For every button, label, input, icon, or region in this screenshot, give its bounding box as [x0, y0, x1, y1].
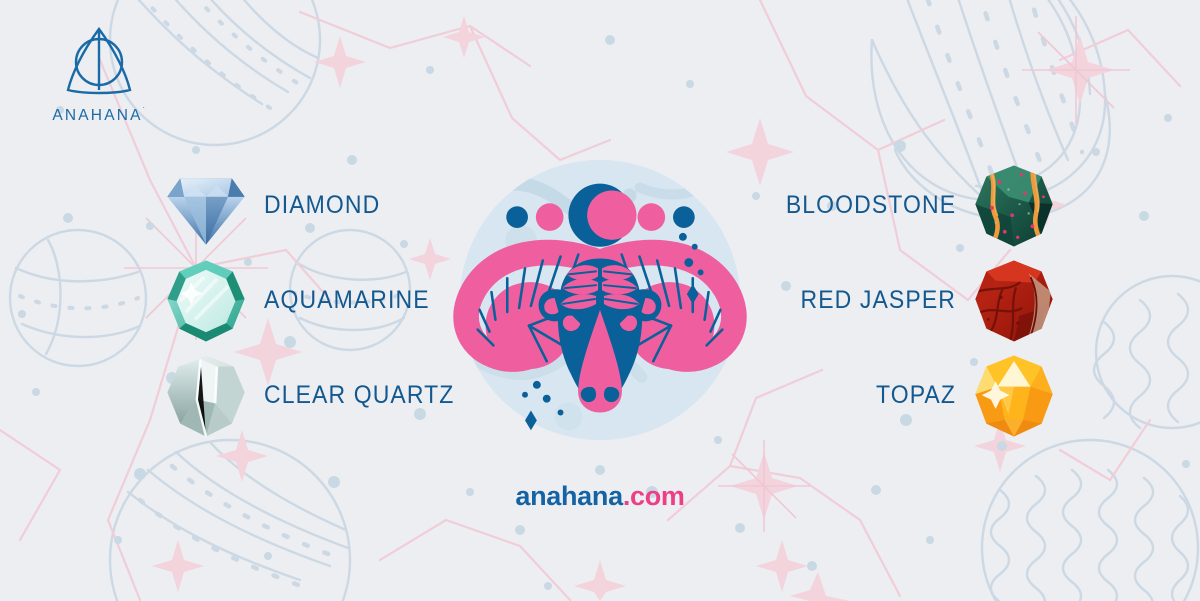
gem-item-diamond[interactable]: DIAMOND	[160, 158, 450, 253]
triquetra-icon	[56, 24, 142, 102]
bloodstone-gem-icon	[968, 160, 1060, 252]
diamond-gem-icon	[160, 160, 252, 252]
trademark-mark: ˙	[143, 106, 146, 116]
gem-item-aquamarine[interactable]: AQUAMARINE	[160, 253, 450, 348]
aquamarine-gem-icon	[160, 255, 252, 347]
gem-label: BLOODSTONE	[786, 191, 956, 220]
gem-list-left: DIAMOND	[160, 158, 450, 443]
brand-wordmark: ANAHANA˙	[34, 106, 164, 125]
gem-label: TOPAZ	[876, 381, 956, 410]
gem-label: AQUAMARINE	[264, 286, 430, 315]
topaz-gem-icon	[968, 350, 1060, 442]
website-url[interactable]: anahana.com	[0, 481, 1200, 512]
url-name: anahana	[515, 481, 622, 511]
clear-quartz-gem-icon	[160, 350, 252, 442]
red-jasper-gem-icon	[968, 255, 1060, 347]
gem-item-bloodstone[interactable]: BLOODSTONE	[760, 158, 1060, 253]
gem-label: DIAMOND	[264, 191, 380, 220]
brand-logo[interactable]: ANAHANA˙	[34, 24, 164, 125]
gem-label: CLEAR QUARTZ	[264, 381, 454, 410]
aries-ram-zodiac-icon	[452, 152, 748, 448]
gem-item-clear-quartz[interactable]: CLEAR QUARTZ	[160, 348, 450, 443]
infographic-canvas: ANAHANA˙	[0, 0, 1200, 601]
gem-label: RED JASPER	[801, 286, 956, 315]
url-tld: .com	[623, 481, 685, 511]
gem-list-right: BLOODSTONE	[760, 158, 1060, 443]
gem-item-topaz[interactable]: TOPAZ	[760, 348, 1060, 443]
gem-item-red-jasper[interactable]: RED JASPER	[760, 253, 1060, 348]
